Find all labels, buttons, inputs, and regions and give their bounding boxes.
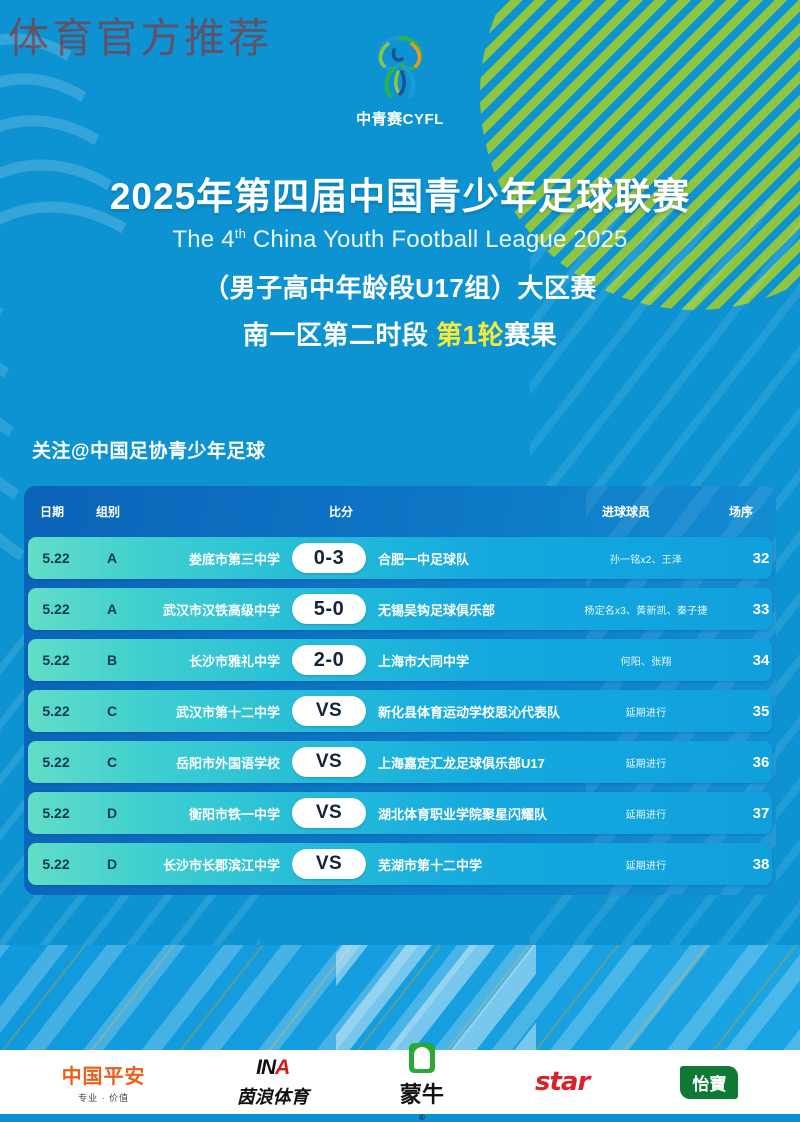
title-block: 2025年第四届中国青少年足球联赛 The 4th China Youth Fo…: [0, 176, 800, 352]
cell-scorers: 延期进行: [566, 806, 726, 821]
cell-home-team: 长沙市长郡滨江中学: [140, 855, 292, 874]
ina-name: 茵浪体育: [237, 1083, 309, 1109]
cell-group: D: [84, 856, 140, 872]
table-row[interactable]: 5.22 D 长沙市长郡滨江中学 VS 芜湖市第十二中学 延期进行 38: [28, 843, 772, 885]
subtitle-round: 南一区第二时段 第1轮赛果: [0, 315, 800, 352]
cell-away-team: 新化县体育运动学校思沁代表队: [366, 702, 566, 721]
bottom-diagonal-band: [0, 945, 800, 1055]
column-header-seq: 场序: [706, 503, 776, 520]
cell-seq: 35: [726, 703, 776, 720]
cell-score: 岳阳市外国语学校 VS 上海嘉定汇龙足球俱乐部U17: [140, 747, 566, 777]
cell-group: D: [84, 805, 140, 821]
watermark-text: 体育官方推荐: [8, 4, 272, 64]
cell-score: 武汉市汉铁高级中学 5-0 无锡吴钩足球俱乐部: [140, 594, 566, 624]
column-header-scorers: 进球球员: [546, 503, 706, 520]
cell-seq: 34: [726, 652, 776, 669]
league-logo: 中青赛CYFL: [340, 28, 460, 129]
cell-home-team: 武汉市汉铁高级中学: [140, 600, 292, 619]
cyfl-swirl-icon: [364, 28, 436, 106]
cell-date: 5.22: [28, 754, 84, 770]
main-title-en: The 4th China Youth Football League 2025: [0, 226, 800, 254]
score-badge: VS: [292, 849, 366, 879]
sponsor-logo-star: star: [535, 1067, 589, 1097]
cell-home-team: 岳阳市外国语学校: [140, 753, 292, 772]
follow-handle: 关注@中国足协青少年足球: [32, 436, 266, 463]
table-row[interactable]: 5.22 B 长沙市雅礼中学 2-0 上海市大同中学 何阳、张翔 34: [28, 639, 772, 681]
round-suffix: 赛果: [504, 320, 557, 350]
ina-mark-b: A: [275, 1056, 289, 1079]
matchup: 衡阳市铁一中学 VS 湖北体育职业学院聚星闪耀队: [140, 798, 566, 828]
cell-away-team: 无锡吴钩足球俱乐部: [366, 600, 566, 619]
cell-group: C: [84, 703, 140, 719]
sponsor-logo-mengniu: 蒙牛 ®: [400, 1043, 444, 1122]
matchup: 长沙市雅礼中学 2-0 上海市大同中学: [140, 645, 566, 675]
cell-date: 5.22: [28, 703, 84, 719]
cell-score: 长沙市雅礼中学 2-0 上海市大同中学: [140, 645, 566, 675]
column-header-date: 日期: [24, 503, 80, 520]
yibao-name: 怡寶: [680, 1066, 738, 1099]
cell-group: A: [84, 601, 140, 617]
column-header-group: 组别: [80, 503, 136, 520]
cell-date: 5.22: [28, 805, 84, 821]
table-row[interactable]: 5.22 A 娄底市第三中学 0-3 合肥一中足球队 孙一铭x2、王泽 32: [28, 537, 772, 579]
matchup: 岳阳市外国语学校 VS 上海嘉定汇龙足球俱乐部U17: [140, 747, 566, 777]
cell-away-team: 合肥一中足球队: [366, 549, 566, 568]
pingan-tagline: 专业 · 价值: [78, 1091, 129, 1104]
matchup: 娄底市第三中学 0-3 合肥一中足球队: [140, 543, 566, 573]
table-body: 5.22 A 娄底市第三中学 0-3 合肥一中足球队 孙一铭x2、王泽 32 5…: [24, 537, 776, 885]
sponsor-bar: 中国平安 专业 · 价值 INA 茵浪体育 蒙牛 ® star 怡寶: [0, 1050, 800, 1114]
cell-date: 5.22: [28, 856, 84, 872]
round-prefix: 南一区第二时段: [243, 320, 436, 350]
title-en-suffix: China Youth Football League 2025: [246, 226, 628, 253]
cell-score: 武汉市第十二中学 VS 新化县体育运动学校思沁代表队: [140, 696, 566, 726]
table-row[interactable]: 5.22 C 岳阳市外国语学校 VS 上海嘉定汇龙足球俱乐部U17 延期进行 3…: [28, 741, 772, 783]
score-badge: 5-0: [292, 594, 366, 624]
column-header-score: 比分: [136, 503, 546, 520]
cell-seq: 37: [726, 805, 776, 822]
star-name: star: [535, 1067, 589, 1097]
cell-group: C: [84, 754, 140, 770]
cell-scorers: 延期进行: [566, 704, 726, 719]
sponsor-logo-yibao: 怡寶: [680, 1066, 738, 1099]
title-en-prefix: The 4: [172, 226, 234, 253]
cell-group: A: [84, 550, 140, 566]
mengniu-glyph-icon: [409, 1043, 435, 1073]
cell-seq: 36: [726, 754, 776, 771]
cell-away-team: 湖北体育职业学院聚星闪耀队: [366, 804, 566, 823]
table-row[interactable]: 5.22 D 衡阳市铁一中学 VS 湖北体育职业学院聚星闪耀队 延期进行 37: [28, 792, 772, 834]
cell-date: 5.22: [28, 601, 84, 617]
cell-score: 娄底市第三中学 0-3 合肥一中足球队: [140, 543, 566, 573]
matchup: 长沙市长郡滨江中学 VS 芜湖市第十二中学: [140, 849, 566, 879]
main-title-cn: 2025年第四届中国青少年足球联赛: [0, 176, 800, 219]
cell-away-team: 芜湖市第十二中学: [366, 855, 566, 874]
round-highlight: 第1轮: [436, 320, 504, 350]
matchup: 武汉市第十二中学 VS 新化县体育运动学校思沁代表队: [140, 696, 566, 726]
cell-date: 5.22: [28, 652, 84, 668]
cell-scorers: 延期进行: [566, 857, 726, 872]
score-badge: VS: [292, 696, 366, 726]
score-badge: VS: [292, 747, 366, 777]
cell-seq: 33: [726, 601, 776, 618]
subtitle-group: （男子高中年龄段U17组）大区赛: [0, 268, 800, 305]
cell-score: 衡阳市铁一中学 VS 湖北体育职业学院聚星闪耀队: [140, 798, 566, 828]
cell-date: 5.22: [28, 550, 84, 566]
table-row[interactable]: 5.22 C 武汉市第十二中学 VS 新化县体育运动学校思沁代表队 延期进行 3…: [28, 690, 772, 732]
title-en-ordinal: th: [235, 226, 246, 241]
cell-score: 长沙市长郡滨江中学 VS 芜湖市第十二中学: [140, 849, 566, 879]
results-table: 日期 组别 比分 进球球员 场序 5.22 A 娄底市第三中学 0-3 合肥一中…: [24, 486, 776, 895]
score-badge: 2-0: [292, 645, 366, 675]
cell-scorers: 杨定名x3、黄新凯、秦子捷: [566, 602, 726, 617]
cell-home-team: 娄底市第三中学: [140, 549, 292, 568]
mengniu-name: 蒙牛: [400, 1077, 444, 1109]
sponsor-logo-pingan: 中国平安 专业 · 价值: [62, 1060, 146, 1104]
cell-home-team: 衡阳市铁一中学: [140, 804, 292, 823]
cell-home-team: 长沙市雅礼中学: [140, 651, 292, 670]
cell-seq: 32: [726, 550, 776, 567]
cell-scorers: 孙一铭x2、王泽: [566, 551, 726, 566]
logo-wordmark: 中青赛CYFL: [340, 108, 460, 129]
cell-scorers: 延期进行: [566, 755, 726, 770]
matchup: 武汉市汉铁高级中学 5-0 无锡吴钩足球俱乐部: [140, 594, 566, 624]
pingan-name: 中国平安: [62, 1060, 146, 1089]
table-row[interactable]: 5.22 A 武汉市汉铁高级中学 5-0 无锡吴钩足球俱乐部 杨定名x3、黄新凯…: [28, 588, 772, 630]
cell-group: B: [84, 652, 140, 668]
ina-mark-a: IN: [256, 1056, 275, 1079]
cell-away-team: 上海嘉定汇龙足球俱乐部U17: [366, 753, 566, 772]
ina-mark: INA: [256, 1056, 289, 1080]
cell-home-team: 武汉市第十二中学: [140, 702, 292, 721]
score-badge: 0-3: [292, 543, 366, 573]
table-header-row: 日期 组别 比分 进球球员 场序: [24, 494, 776, 528]
sponsor-logo-ina: INA 茵浪体育: [237, 1056, 309, 1109]
cell-away-team: 上海市大同中学: [366, 651, 566, 670]
cell-seq: 38: [726, 856, 776, 873]
cell-scorers: 何阳、张翔: [566, 653, 726, 668]
score-badge: VS: [292, 798, 366, 828]
